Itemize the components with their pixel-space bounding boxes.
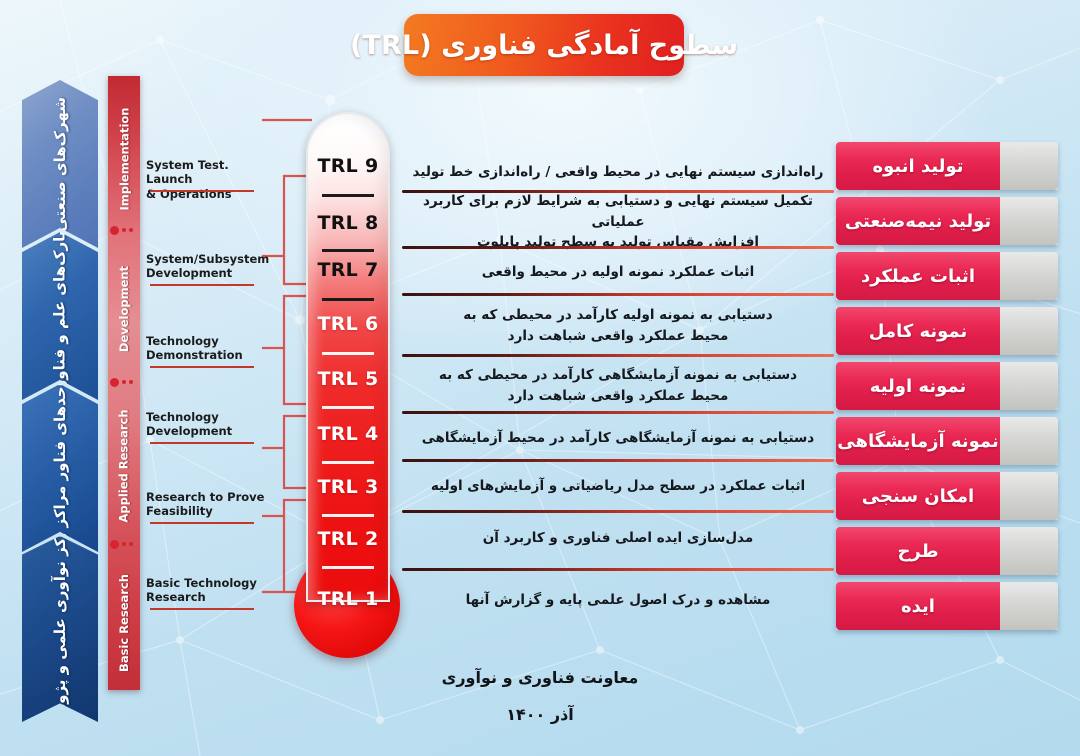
badge-performance-proof[interactable]: اثبات عملکرد [836, 252, 1058, 300]
description-row-7: اثبات عملکرد نمونه اولیه در محیط واقعی [398, 252, 838, 292]
description-row-3: اثبات عملکرد در سطح مدل ریاضیاتی و آزمای… [398, 466, 838, 506]
description-row-9: راه‌اندازی سیستم نهایی در محیط واقعی / ر… [398, 152, 838, 192]
stage-label-system-subsystem: System/SubsystemDevelopment [146, 252, 278, 281]
badge-label-6: نمونه کامل [869, 321, 968, 342]
badge-label-1: ایده [901, 596, 935, 617]
stakeholder-arrows: شهرک‌های صنعتی پارک‌های علم و فناوری واح… [22, 80, 98, 690]
description-row-4: دستیابی به نمونه آزمایشگاهی کارآمد در مح… [398, 418, 838, 458]
badge-plan[interactable]: طرح [836, 527, 1058, 575]
stage-underline-1 [150, 284, 254, 286]
badge-gray-5 [1000, 362, 1058, 410]
page-title: سطوح آمادگی فناوری (TRL) [404, 14, 684, 76]
description-row-2: مدل‌سازی ایده اصلی فناوری و کاربرد آن [398, 518, 838, 558]
phase-bar: Implementation Development Applied Resea… [108, 76, 140, 690]
badge-gray-9 [1000, 142, 1058, 190]
description-text-8: تکمیل سیستم نهایی و دستیابی به شرایط لاز… [398, 191, 838, 254]
description-text-7: اثبات عملکرد نمونه اولیه در محیط واقعی [398, 262, 838, 283]
badge-gray-2 [1000, 527, 1058, 575]
badge-feasibility[interactable]: امکان سنجی [836, 472, 1058, 520]
description-text-5: دستیابی به نمونه آزمایشگاهی کارآمد در مح… [398, 365, 838, 407]
phase-divider-dots-1 [110, 224, 140, 236]
phase-label-2: Applied Research [117, 409, 131, 522]
arrow-incubator-units[interactable]: واحدهای فناور مراکز رشد [22, 384, 98, 552]
badge-label-8: تولید نیمه‌صنعتی [845, 211, 991, 232]
description-text-9: راه‌اندازی سیستم نهایی در محیط واقعی / ر… [398, 162, 838, 183]
phase-label-3: Basic Research [117, 574, 131, 672]
badge-semi-industrial-production[interactable]: تولید نیمه‌صنعتی [836, 197, 1058, 245]
badge-pink-5: نمونه اولیه [836, 362, 1000, 410]
title-badge: سطوح آمادگی فناوری (TRL) [404, 14, 684, 76]
stage-label-research-feasibility: Research to ProveFeasibility [146, 490, 278, 519]
phase-applied-research[interactable]: Applied Research [108, 396, 140, 536]
trl-level-5[interactable]: TRL 5 [306, 368, 390, 390]
description-row-6: دستیابی به نمونه اولیه کارآمد در محیطی ک… [398, 300, 838, 352]
trl-tick-5 [322, 406, 374, 409]
stage-label-tech-demo: TechnologyDemonstration [146, 334, 278, 363]
description-row-5: دستیابی به نمونه آزمایشگاهی کارآمد در مح… [398, 360, 838, 412]
stage-label-tech-development: TechnologyDevelopment [146, 410, 278, 439]
badge-pink-3: امکان سنجی [836, 472, 1000, 520]
trl-tick-9 [322, 194, 374, 197]
badge-mass-production[interactable]: تولید انبوه [836, 142, 1058, 190]
description-row-8: تکمیل سیستم نهایی و دستیابی به شرایط لاز… [398, 196, 838, 248]
trl-level-2[interactable]: TRL 2 [306, 528, 390, 550]
stage-label-basic-tech-research: Basic TechnologyResearch [146, 576, 278, 605]
badge-gray-7 [1000, 252, 1058, 300]
footer: معاونت فناوری و نوآوری آذر ۱۴۰۰ [0, 668, 1080, 724]
badge-idea[interactable]: ایده [836, 582, 1058, 630]
trl-level-3[interactable]: TRL 3 [306, 476, 390, 498]
trl-level-1[interactable]: TRL 1 [306, 588, 390, 610]
trl-tick-3 [322, 514, 374, 517]
description-separator-3 [402, 510, 834, 513]
description-text-2: مدل‌سازی ایده اصلی فناوری و کاربرد آن [398, 528, 838, 549]
badge-gray-4 [1000, 417, 1058, 465]
badge-pink-7: اثبات عملکرد [836, 252, 1000, 300]
badge-label-5: نمونه اولیه [870, 376, 966, 397]
trl-tick-4 [322, 461, 374, 464]
trl-level-7[interactable]: TRL 7 [306, 259, 390, 281]
description-text-3: اثبات عملکرد در سطح مدل ریاضیاتی و آزمای… [398, 476, 838, 497]
description-separator-8 [402, 246, 834, 249]
arrow-label-2: واحدهای فناور مراکز رشد [51, 372, 70, 565]
trl-tick-7 [322, 298, 374, 301]
badge-pink-1: ایده [836, 582, 1000, 630]
trl-level-9[interactable]: TRL 9 [306, 155, 390, 177]
infographic-root: سطوح آمادگی فناوری (TRL) شهرک‌های صنعتی … [0, 0, 1080, 756]
arrow-label-0: شهرک‌های صنعتی [51, 97, 70, 232]
description-separator-7 [402, 293, 834, 296]
title-text: سطوح آمادگی فناوری (TRL) [350, 30, 738, 61]
badge-initial-prototype[interactable]: نمونه اولیه [836, 362, 1058, 410]
description-separator-6 [402, 354, 834, 357]
badge-label-9: تولید انبوه [872, 156, 963, 177]
phase-label-0: Implementation [117, 108, 131, 211]
trl-level-8[interactable]: TRL 8 [306, 212, 390, 234]
stage-label-system-test: System Test. Launch& Operations [146, 158, 278, 201]
stage-labels: System Test. Launch& Operations System/S… [146, 100, 286, 660]
badge-gray-1 [1000, 582, 1058, 630]
badge-pink-6: نمونه کامل [836, 307, 1000, 355]
phase-divider-dots-2 [110, 376, 140, 388]
stage-underline-3 [150, 442, 254, 444]
arrow-industrial-towns[interactable]: شهرک‌های صنعتی [22, 80, 98, 248]
badge-gray-8 [1000, 197, 1058, 245]
phase-divider-dots-3 [110, 538, 140, 550]
stage-underline-0 [150, 190, 254, 192]
badge-pink-2: طرح [836, 527, 1000, 575]
outcome-badges: تولید انبوه تولید نیمه‌صنعتی اثبات عملکر… [836, 142, 1060, 634]
trl-tick-2 [322, 566, 374, 569]
stage-underline-5 [150, 608, 254, 610]
badge-label-3: امکان سنجی [862, 486, 974, 507]
trl-tick-6 [322, 352, 374, 355]
phase-implementation[interactable]: Implementation [108, 94, 140, 224]
trl-level-4[interactable]: TRL 4 [306, 423, 390, 445]
badge-full-prototype[interactable]: نمونه کامل [836, 307, 1058, 355]
description-separator-4 [402, 459, 834, 462]
description-row-1: مشاهده و درک اصول علمی پایه و گزارش آنها [398, 580, 838, 620]
footer-organization: معاونت فناوری و نوآوری [0, 668, 1080, 687]
badge-pink-8: تولید نیمه‌صنعتی [836, 197, 1000, 245]
badge-pink-9: تولید انبوه [836, 142, 1000, 190]
arrow-science-tech-parks[interactable]: پارک‌های علم و فناوری [22, 232, 98, 400]
badge-pink-4: نمونه آزمایشگاهی [836, 417, 1000, 465]
arrow-label-1: پارک‌های علم و فناوری [51, 230, 70, 401]
trl-tick-8 [322, 249, 374, 252]
badge-label-4: نمونه آزمایشگاهی [837, 431, 998, 452]
description-text-4: دستیابی به نمونه آزمایشگاهی کارآمد در مح… [398, 428, 838, 449]
phase-development[interactable]: Development [108, 244, 140, 374]
phase-label-1: Development [117, 266, 131, 352]
description-text-6: دستیابی به نمونه اولیه کارآمد در محیطی ک… [398, 305, 838, 347]
footer-date: آذر ۱۴۰۰ [0, 705, 1080, 724]
badge-label-2: طرح [897, 541, 938, 562]
stage-underline-2 [150, 366, 254, 368]
description-separator-2 [402, 568, 834, 571]
stage-underline-4 [150, 522, 254, 524]
badge-label-7: اثبات عملکرد [861, 266, 975, 287]
badge-lab-prototype[interactable]: نمونه آزمایشگاهی [836, 417, 1058, 465]
description-separator-5 [402, 411, 834, 414]
badge-gray-6 [1000, 307, 1058, 355]
description-text-1: مشاهده و درک اصول علمی پایه و گزارش آنها [398, 590, 838, 611]
trl-descriptions: راه‌اندازی سیستم نهایی در محیط واقعی / ر… [398, 128, 844, 638]
badge-gray-3 [1000, 472, 1058, 520]
trl-level-6[interactable]: TRL 6 [306, 313, 390, 335]
